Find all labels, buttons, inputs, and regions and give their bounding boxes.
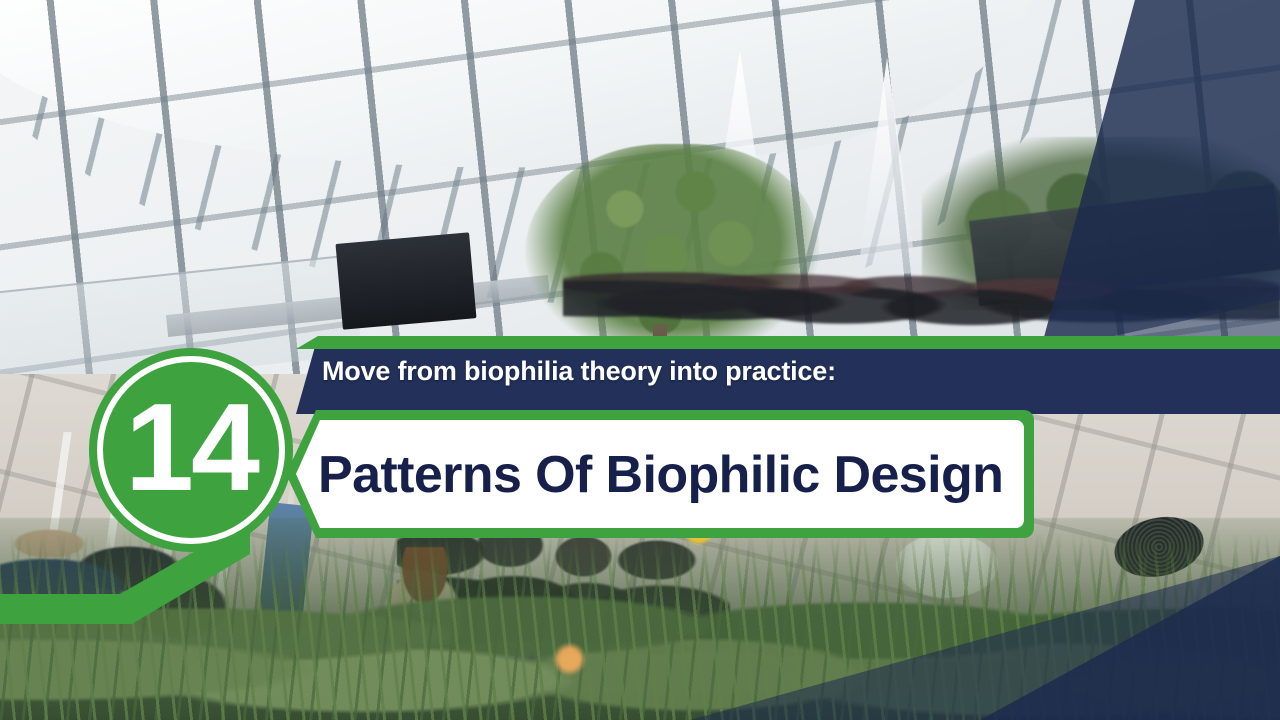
badge-number: 14 bbox=[125, 386, 257, 510]
page-title: Patterns Of Biophilic Design bbox=[318, 436, 1018, 514]
number-badge: 14 bbox=[89, 348, 293, 552]
green-top-rule bbox=[296, 336, 1280, 349]
slide-canvas: Move from biophilia theory into practice… bbox=[0, 0, 1280, 720]
uplighter-glow bbox=[550, 641, 588, 677]
dark-wall-panel bbox=[336, 232, 477, 330]
subtitle-text: Move from biophilia theory into practice… bbox=[322, 356, 836, 387]
